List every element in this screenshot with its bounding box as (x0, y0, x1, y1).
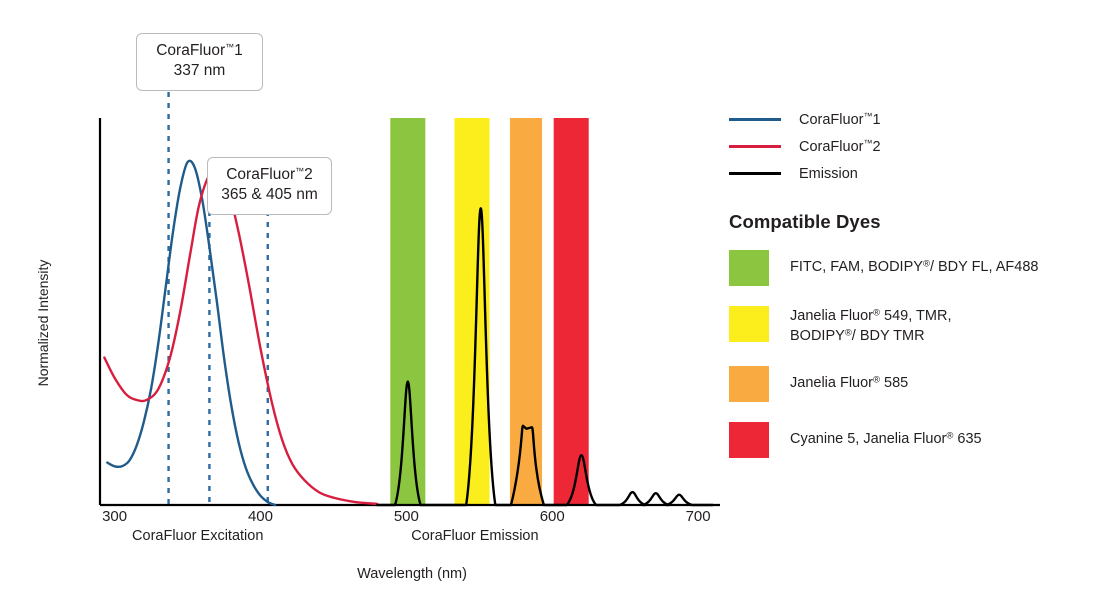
legend-series-label-main: CoraFluor (799, 139, 863, 155)
legend-series-label-main: Emission (799, 166, 858, 182)
y-axis-title: Normalized Intensity (35, 243, 51, 403)
legend-series-label: CoraFluor™2 (799, 138, 881, 155)
callout-corafluor2: CoraFluor™2 365 & 405 nm (207, 157, 332, 215)
compatible-dye-row: Cyanine 5, Janelia Fluor® 635 (729, 422, 1099, 458)
legend-series-label-suffix: 1 (872, 112, 880, 128)
dye-label: Cyanine 5, Janelia Fluor® 635 (790, 422, 982, 450)
dye-label-line2: BODIPY®/ BDY TMR (790, 327, 951, 347)
registered-symbol: ® (923, 259, 930, 270)
region-label-excitation: CoraFluor Excitation (98, 528, 298, 544)
dye-color-swatch (729, 250, 769, 286)
dye-label-line1-a: Janelia Fluor (790, 375, 873, 391)
registered-symbol: ® (845, 327, 852, 338)
legend-series-row: CoraFluor™1 (729, 106, 1099, 133)
compatible-dyes-heading: Compatible Dyes (729, 211, 1099, 233)
region-label-emission: CoraFluor Emission (375, 528, 575, 544)
x-tick-label-300: 300 (85, 508, 145, 525)
x-tick-label-600: 600 (522, 508, 582, 525)
compatible-dye-row: Janelia Fluor® 585 (729, 366, 1099, 402)
legend-line-swatch (729, 118, 781, 121)
dye-label-line1-b: 549, TMR, (880, 308, 951, 324)
dye-label: Janelia Fluor® 585 (790, 366, 908, 394)
dye-color-swatch (729, 366, 769, 402)
registered-symbol: ® (873, 308, 880, 319)
dye-label: Janelia Fluor® 549, TMR,BODIPY®/ BDY TMR (790, 306, 951, 346)
dye-label-line1-a: Janelia Fluor (790, 308, 873, 324)
dye-label-line1-a: Cyanine 5, Janelia Fluor (790, 431, 946, 447)
legend: CoraFluor™1CoraFluor™2Emission Compatibl… (729, 106, 1099, 478)
dye-label-line2-b: / BDY TMR (852, 328, 925, 344)
legend-line-swatch (729, 145, 781, 148)
dye-band-3 (510, 118, 542, 505)
legend-series-label: Emission (799, 166, 858, 182)
compatible-dyes-list: FITC, FAM, BODIPY®/ BDY FL, AF488Janelia… (729, 250, 1099, 458)
compatible-dye-row: FITC, FAM, BODIPY®/ BDY FL, AF488 (729, 250, 1099, 286)
dye-label-line1-b: / BDY FL, AF488 (930, 259, 1039, 275)
series-legend-list: CoraFluor™1CoraFluor™2Emission (729, 106, 1099, 187)
curve-emission (377, 208, 713, 505)
compatible-dye-row: Janelia Fluor® 549, TMR,BODIPY®/ BDY TMR (729, 306, 1099, 346)
callout-corafluor1-line2: 337 nm (149, 61, 250, 81)
dye-color-swatch (729, 422, 769, 458)
x-tick-label-500: 500 (376, 508, 436, 525)
dye-label-line2-a: BODIPY (790, 328, 845, 344)
dye-label-line1: FITC, FAM, BODIPY®/ BDY FL, AF488 (790, 258, 1038, 278)
registered-symbol: ® (873, 375, 880, 386)
dye-band-4 (554, 118, 589, 505)
dye-label-line1: Cyanine 5, Janelia Fluor® 635 (790, 430, 982, 450)
x-tick-label-400: 400 (230, 508, 290, 525)
legend-series-row: CoraFluor™2 (729, 133, 1099, 160)
trademark-symbol: ™ (295, 166, 304, 176)
dye-label-line1-b: 585 (880, 375, 908, 391)
callout-corafluor2-line2: 365 & 405 nm (220, 185, 319, 205)
callout-corafluor1: CoraFluor™1 337 nm (136, 33, 263, 91)
x-tick-label-700: 700 (668, 508, 728, 525)
legend-series-label: CoraFluor™1 (799, 111, 881, 128)
legend-line-swatch (729, 172, 781, 175)
dye-label: FITC, FAM, BODIPY®/ BDY FL, AF488 (790, 250, 1038, 278)
dye-label-line1: Janelia Fluor® 585 (790, 374, 908, 394)
figure-root: CoraFluor™1 337 nm CoraFluor™2 365 & 405… (0, 0, 1110, 612)
x-axis-title: Wavelength (nm) (0, 566, 824, 582)
legend-series-label-suffix: 2 (872, 139, 880, 155)
callout-corafluor2-line1: CoraFluor™2 (220, 165, 319, 185)
callout-corafluor1-line1: CoraFluor™1 (149, 41, 250, 61)
dye-label-line1: Janelia Fluor® 549, TMR, (790, 307, 951, 327)
trademark-symbol: ™ (225, 42, 234, 52)
dye-label-line1-b: 635 (953, 431, 981, 447)
dye-color-swatch (729, 306, 769, 342)
legend-series-label-main: CoraFluor (799, 112, 863, 128)
dye-band-1 (390, 118, 425, 505)
dye-label-line1-a: FITC, FAM, BODIPY (790, 259, 923, 275)
legend-series-row: Emission (729, 160, 1099, 187)
